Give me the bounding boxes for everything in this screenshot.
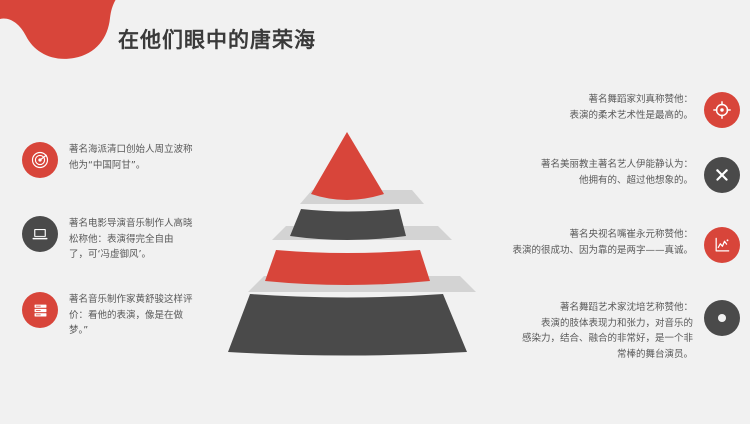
list-item-right-4[interactable]: 著名舞蹈艺术家沈培艺称赞他： 表演的肢体表现力和张力，对音乐的 感染力，结合、融… [463, 300, 740, 363]
list-item-left-1[interactable]: 著名海派清口创始人周立波称 他为“中国阿甘”。 [22, 142, 221, 178]
line-chart-icon [704, 227, 740, 263]
list-item-text: 著名舞蹈家刘真称赞他： 表演的柔术艺术性是最高的。 [523, 92, 693, 123]
radar-target-icon [22, 142, 58, 178]
server-stack-icon [22, 292, 58, 328]
list-item-text: 著名音乐制作家黄舒骏这样评 价：看他的表演，像是在做 梦。” [69, 292, 221, 339]
pyramid-layer-1 [311, 132, 384, 200]
list-item-text: 著名海派清口创始人周立波称 他为“中国阿甘”。 [69, 142, 221, 173]
list-item-left-2[interactable]: 著名电影导演音乐制作人高晓 松称他：表演得完全自由 了，可‘冯虚御风’。 [22, 216, 221, 263]
list-item-text: 著名舞蹈艺术家沈培艺称赞他： 表演的肢体表现力和张力，对音乐的 感染力，结合、融… [463, 300, 693, 363]
page-title: 在他们眼中的唐荣海 [118, 24, 316, 54]
list-item-text: 著名央视名嘴崔永元称赞他： 表演的很成功、因为靠的是两字——真诚。 [478, 227, 693, 258]
list-item-right-1[interactable]: 著名舞蹈家刘真称赞他： 表演的柔术艺术性是最高的。 [523, 92, 740, 128]
pyramid-layer-4 [228, 294, 467, 356]
list-item-text: 著名电影导演音乐制作人高晓 松称他：表演得完全自由 了，可‘冯虚御风’。 [69, 216, 221, 263]
laptop-icon [22, 216, 58, 252]
pyramid-layer-2 [290, 209, 406, 240]
list-item-right-2[interactable]: 著名美丽教主著名艺人伊能静认为： 他拥有的、超过他想象的。 [493, 157, 740, 193]
four-layer-pyramid [228, 128, 496, 360]
tools-cross-icon [704, 157, 740, 193]
donut-ring-icon [704, 300, 740, 336]
list-item-left-3[interactable]: 著名音乐制作家黄舒骏这样评 价：看他的表演，像是在做 梦。” [22, 292, 221, 339]
list-item-right-3[interactable]: 著名央视名嘴崔永元称赞他： 表演的很成功、因为靠的是两字——真诚。 [478, 227, 740, 263]
crosshair-target-icon [704, 92, 740, 128]
list-item-text: 著名美丽教主著名艺人伊能静认为： 他拥有的、超过他想象的。 [493, 157, 693, 188]
presentation-slide: 在他们眼中的唐荣海 著名海派清口创始人周立波称 他为“中国阿甘”。 [0, 0, 750, 424]
pyramid-layer-3 [265, 250, 430, 285]
